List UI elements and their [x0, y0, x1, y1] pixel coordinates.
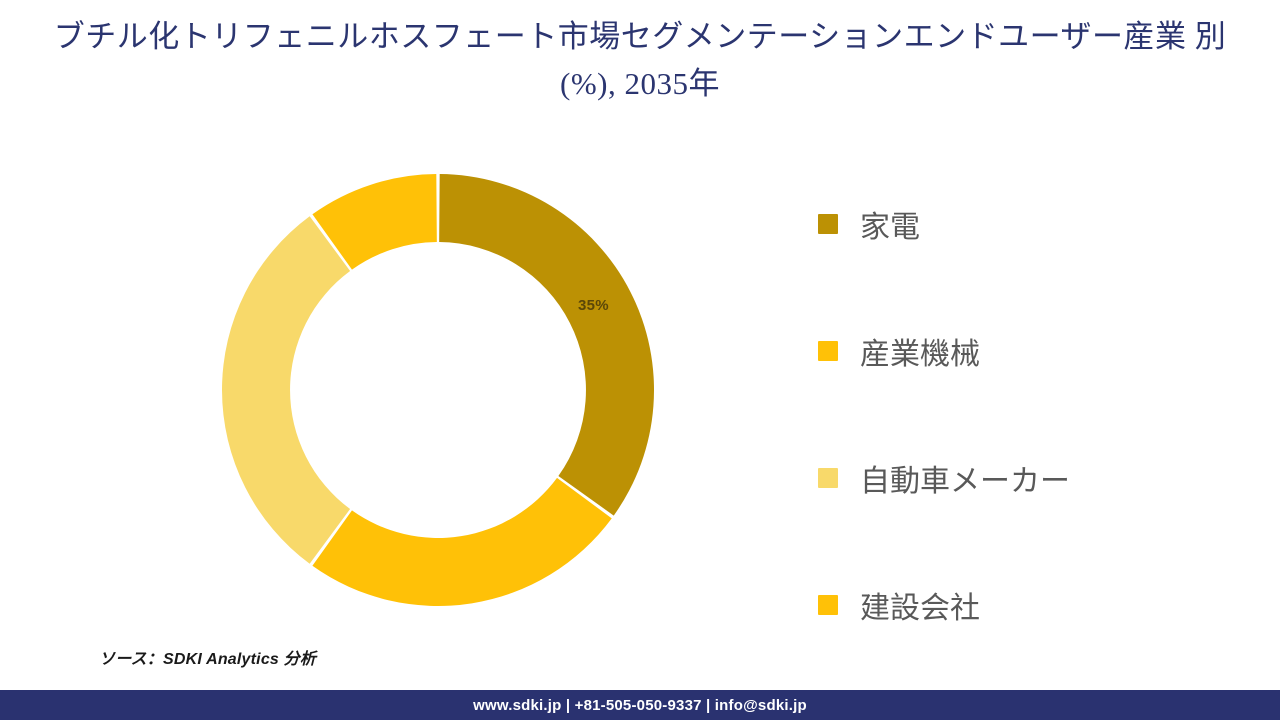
donut-slice-2[interactable]: [222, 216, 350, 563]
legend-item-3[interactable]: 建設会社: [818, 541, 1218, 668]
donut-slice-group: [222, 174, 654, 606]
legend-swatch-icon-2: [818, 468, 838, 488]
chart-legend: 家電 産業機械 自動車メーカー 建設会社: [818, 160, 1218, 668]
legend-swatch-icon-3: [818, 595, 838, 615]
legend-label-1: 産業機械: [860, 329, 980, 373]
legend-swatch-icon-1: [818, 341, 838, 361]
legend-item-1[interactable]: 産業機械: [818, 287, 1218, 414]
footer-bar: www.sdki.jp | +81-505-050-9337 | info@sd…: [0, 690, 1280, 720]
donut-chart-svg: [222, 174, 654, 606]
source-note: ソース：SDKI Analytics 分析: [99, 645, 316, 669]
legend-label-3: 建設会社: [860, 583, 980, 627]
legend-item-0[interactable]: 家電: [818, 160, 1218, 287]
legend-label-2: 自動車メーカー: [860, 456, 1070, 500]
page-title: ブチル化トリフェニルホスフェート市場セグメンテーションエンドユーザー産業 別(%…: [40, 14, 1240, 107]
slice-data-label-35: 35%: [578, 297, 609, 314]
donut-chart: [222, 174, 654, 606]
legend-label-0: 家電: [860, 202, 920, 246]
footer-contact-text: www.sdki.jp | +81-505-050-9337 | info@sd…: [473, 697, 807, 714]
donut-slice-0[interactable]: [439, 174, 654, 516]
legend-item-2[interactable]: 自動車メーカー: [818, 414, 1218, 541]
donut-slice-1[interactable]: [312, 478, 611, 606]
legend-swatch-icon-0: [818, 214, 838, 234]
